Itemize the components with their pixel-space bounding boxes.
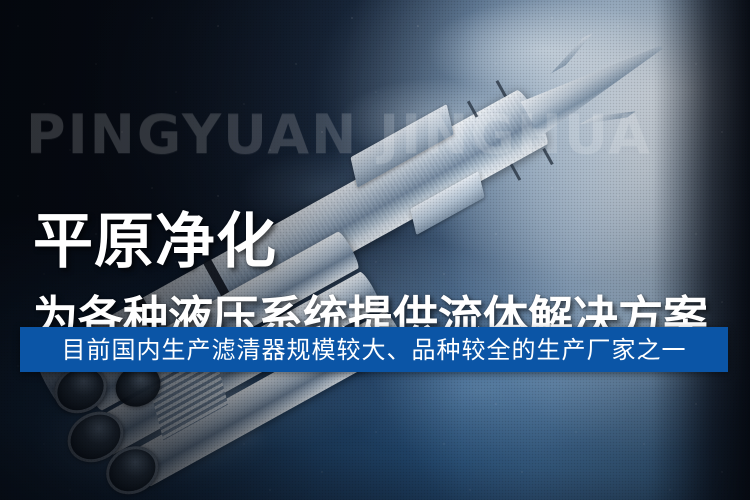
promo-banner: PINGYUAN JINGHUA 平原净化 为各种液压系统提供流体解决方案 目前… — [0, 0, 750, 500]
company-title: 平原净化 — [33, 212, 277, 272]
highlight-strip: 目前国内生产滤清器规模较大、品种较全的生产厂家之一 — [20, 327, 728, 372]
pinyin-watermark: PINGYUAN JINGHUA — [26, 108, 750, 162]
banner-content: PINGYUAN JINGHUA 平原净化 为各种液压系统提供流体解决方案 目前… — [0, 0, 750, 500]
highlight-strip-text: 目前国内生产滤清器规模较大、品种较全的生产厂家之一 — [62, 338, 687, 362]
